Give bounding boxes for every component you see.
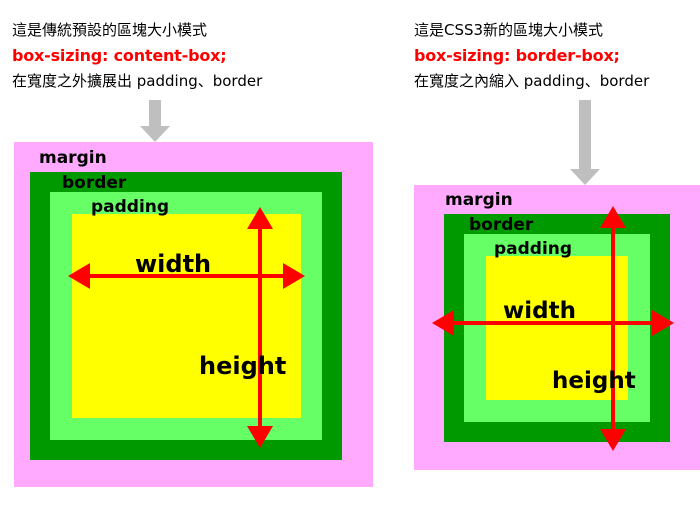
arrow-head-right: [283, 263, 305, 289]
height-label: height: [552, 368, 636, 394]
border-label: border: [62, 175, 126, 192]
arrow-down-icon: [140, 100, 170, 142]
border-label: border: [469, 217, 533, 234]
arrow-shaft: [611, 218, 615, 439]
left-caption-code: box-sizing: content-box;: [12, 43, 262, 69]
arrow-head-left: [68, 263, 90, 289]
padding-label: padding: [494, 241, 572, 258]
left-caption-block: 這是傳統預設的區塊大小模式 box-sizing: content-box; 在…: [12, 18, 262, 94]
height-label: height: [199, 352, 286, 380]
arrow-shaft: [579, 100, 591, 169]
content-box-diagram: margin border padding: [14, 142, 373, 487]
left-caption-line-3: 在寬度之外擴展出 padding、border: [12, 69, 262, 94]
arrow-head-down: [600, 429, 626, 451]
arrow-head: [140, 126, 170, 142]
arrow-head-up: [600, 206, 626, 228]
width-label: width: [503, 298, 576, 324]
diagram-canvas: 這是傳統預設的區塊大小模式 box-sizing: content-box; 在…: [0, 0, 700, 514]
right-caption-code: box-sizing: border-box;: [414, 43, 649, 69]
right-caption-block: 這是CSS3新的區塊大小模式 box-sizing: border-box; 在…: [414, 18, 649, 94]
arrow-down-icon: [570, 100, 600, 185]
margin-label: margin: [445, 192, 513, 209]
arrow-shaft: [149, 100, 161, 126]
arrow-head-down: [247, 426, 273, 448]
arrow-shaft: [258, 219, 262, 436]
right-caption-line-3: 在寬度之內縮入 padding、border: [414, 69, 649, 94]
arrow-head-up: [247, 207, 273, 229]
height-measure-arrow: [242, 207, 278, 448]
left-caption-line-1: 這是傳統預設的區塊大小模式: [12, 18, 262, 43]
right-caption-line-1: 這是CSS3新的區塊大小模式: [414, 18, 649, 43]
arrow-head: [570, 169, 600, 185]
height-measure-arrow: [595, 206, 631, 451]
width-label: width: [135, 250, 211, 278]
arrow-head-right: [652, 310, 674, 336]
padding-label: padding: [91, 199, 169, 216]
margin-label: margin: [39, 150, 107, 167]
arrow-head-left: [432, 310, 454, 336]
